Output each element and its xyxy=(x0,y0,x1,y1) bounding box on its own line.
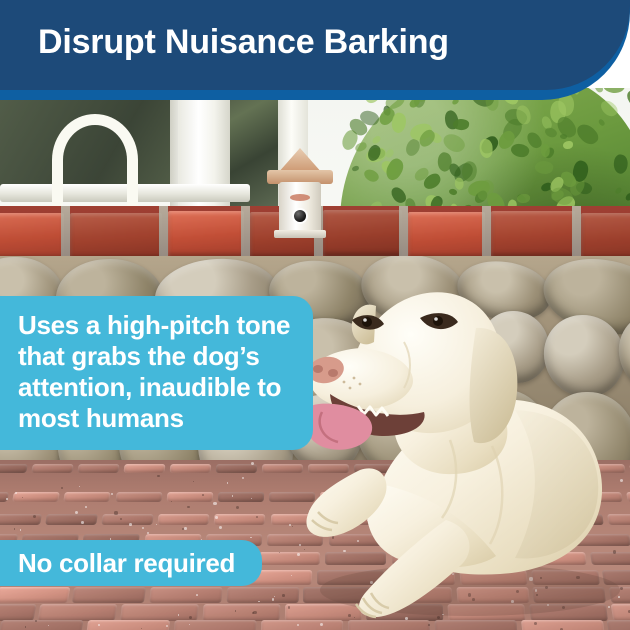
ultrasonic-bark-control-device xyxy=(268,148,332,240)
patio-brick xyxy=(214,514,266,525)
patio-brick xyxy=(226,587,298,603)
grit-speck xyxy=(178,614,179,615)
hedge-leaf xyxy=(351,166,359,172)
grit-speck xyxy=(227,482,229,484)
hedge-leaf xyxy=(614,186,623,195)
grit-speck xyxy=(79,486,80,487)
no-collar-callout-text: No collar required xyxy=(18,548,235,579)
mortar-joint xyxy=(482,206,491,258)
patio-brick xyxy=(149,587,222,603)
patio-brick xyxy=(0,604,36,621)
hedge-leaf xyxy=(533,159,554,176)
grit-speck xyxy=(291,575,292,576)
patio-brick xyxy=(0,492,9,502)
grit-speck xyxy=(6,498,7,499)
hedge-leaf xyxy=(624,192,630,201)
grit-speck xyxy=(215,516,218,519)
grit-speck xyxy=(48,625,50,627)
grit-speck xyxy=(282,594,285,597)
grit-speck xyxy=(85,506,87,508)
feature-callout: Uses a high-pitch tone that grabs the do… xyxy=(0,296,313,450)
hedge-leaf xyxy=(362,167,380,185)
grit-speck xyxy=(252,612,254,614)
patio-brick xyxy=(12,492,60,502)
patio-brick xyxy=(216,464,257,473)
grit-speck xyxy=(111,493,114,496)
grit-speck xyxy=(232,495,233,496)
brick xyxy=(581,213,630,259)
grit-speck xyxy=(289,524,291,526)
patio-brick xyxy=(120,604,199,621)
patio-brick xyxy=(202,604,280,621)
hedge-leaf xyxy=(509,141,531,160)
patio-brick xyxy=(166,492,213,502)
hedge-leaf xyxy=(452,118,469,131)
grit-speck xyxy=(75,511,78,514)
hedge-leaf xyxy=(371,135,381,145)
grit-speck xyxy=(184,527,186,529)
feature-callout-line-1: Uses a high-pitch tone xyxy=(18,310,293,341)
railing-arch xyxy=(52,114,138,206)
grit-speck xyxy=(258,601,260,603)
patio-brick xyxy=(124,464,166,473)
device-emblem xyxy=(290,194,310,201)
grit-speck xyxy=(20,529,21,530)
grit-speck xyxy=(129,523,132,526)
grit-speck xyxy=(189,624,190,625)
mortar-joint xyxy=(61,206,70,258)
patio-brick xyxy=(77,464,119,473)
grit-speck xyxy=(288,606,290,608)
brick xyxy=(168,211,245,257)
hedge-leaf xyxy=(555,114,578,140)
mortar-joint xyxy=(241,206,250,258)
patio-brick xyxy=(158,514,210,525)
patio-brick xyxy=(262,464,303,473)
hedge-leaf xyxy=(543,126,558,140)
patio-brick xyxy=(64,492,112,502)
hedge-leaf xyxy=(480,140,494,159)
device-base xyxy=(274,230,326,238)
dog-illustration xyxy=(300,270,630,630)
grit-speck xyxy=(14,528,15,529)
white-porch-railing xyxy=(0,184,250,202)
grit-speck xyxy=(81,521,84,524)
feature-callout-line-3: attention, inaudible to xyxy=(18,372,293,403)
hedge-leaf xyxy=(611,153,628,175)
patio-brick xyxy=(0,587,70,603)
feature-callout-line-4: most humans xyxy=(18,403,293,434)
brick xyxy=(323,210,402,256)
brick xyxy=(70,213,161,259)
patio-brick xyxy=(72,587,146,603)
grit-speck xyxy=(236,506,239,509)
grit-speck xyxy=(33,515,36,518)
advertisement-panel: Disrupt Nuisance Barking Uses a high-pit… xyxy=(0,0,630,630)
labrador-retriever xyxy=(300,270,630,630)
device-speaker-icon xyxy=(294,210,306,222)
grit-speck xyxy=(253,611,256,614)
grit-speck xyxy=(196,594,198,596)
mortar-joint xyxy=(572,206,581,258)
patio-brick xyxy=(101,514,154,525)
grit-speck xyxy=(213,502,216,505)
patio-brick xyxy=(31,464,73,473)
patio-brick xyxy=(0,620,84,630)
patio-brick xyxy=(217,492,264,502)
mortar-joint xyxy=(159,206,168,258)
grit-speck xyxy=(202,494,204,496)
grit-speck xyxy=(272,598,275,601)
patio-brick xyxy=(173,620,256,630)
patio-brick xyxy=(45,514,98,525)
page-title: Disrupt Nuisance Barking xyxy=(38,22,449,63)
hedge-leaf xyxy=(563,141,574,149)
brick xyxy=(0,213,64,259)
feature-callout-line-2: that grabs the dog’s xyxy=(18,341,293,372)
grit-speck xyxy=(61,487,63,489)
brick xyxy=(491,211,575,257)
grit-speck xyxy=(187,506,189,508)
grit-speck xyxy=(242,477,244,479)
patio-brick xyxy=(115,492,162,502)
grit-speck xyxy=(171,501,173,503)
grit-speck xyxy=(292,526,293,527)
grit-speck xyxy=(235,610,236,611)
patio-brick xyxy=(0,464,28,473)
grit-speck xyxy=(157,475,159,477)
grit-speck xyxy=(25,626,26,627)
grit-speck xyxy=(15,492,17,494)
patio-brick xyxy=(38,604,117,621)
grit-speck xyxy=(142,527,144,529)
hedge-leaf xyxy=(517,194,530,204)
grit-speck xyxy=(219,526,222,529)
grit-speck xyxy=(35,620,37,622)
grit-speck xyxy=(156,524,157,525)
device-body xyxy=(279,182,321,234)
brick xyxy=(408,212,485,258)
patio-brick xyxy=(170,464,212,473)
grit-speck xyxy=(193,481,194,482)
mortar-joint xyxy=(399,206,408,258)
no-collar-callout: No collar required xyxy=(0,540,262,586)
grit-speck xyxy=(114,511,117,514)
